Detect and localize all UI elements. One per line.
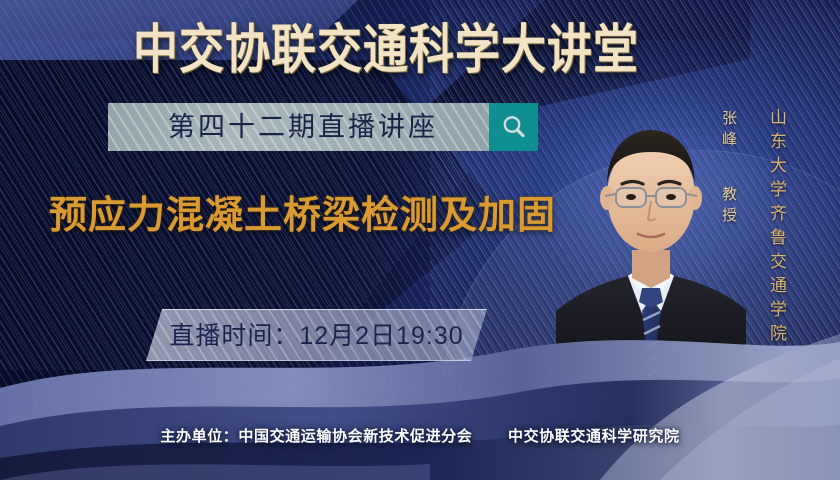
footer-institute: 中交协联交通科学研究院 bbox=[508, 428, 680, 445]
broadcast-time-label: 直播时间：12月2日19:30 bbox=[146, 310, 487, 361]
speaker-name: 张峰 bbox=[718, 110, 739, 152]
episode-label: 第四十二期直播讲座 bbox=[108, 103, 498, 151]
lecture-topic: 预应力混凝土桥梁检测及加固 bbox=[49, 190, 609, 242]
broadcast-time-pill: 直播时间：12月2日19:30 bbox=[146, 309, 487, 361]
speaker-rank: 教授 bbox=[718, 186, 739, 228]
page-title: 中交协联交通科学大讲堂 bbox=[133, 18, 693, 82]
speaker-organization: 山东大学齐鲁交通学院 bbox=[764, 108, 789, 348]
footer-organizers: 主办单位：中国交通运输协会新技术促进分会 中交协联交通科学研究院 bbox=[0, 425, 840, 446]
footer-host: 主办单位：中国交通运输协会新技术促进分会 bbox=[160, 428, 472, 445]
episode-bar: 第四十二期直播讲座 bbox=[108, 103, 498, 151]
search-icon bbox=[500, 113, 528, 141]
livestream-poster: 中交协联交通科学大讲堂 第四十二期直播讲座 预应力混凝土桥梁检测及加固 直播时间… bbox=[0, 0, 840, 480]
